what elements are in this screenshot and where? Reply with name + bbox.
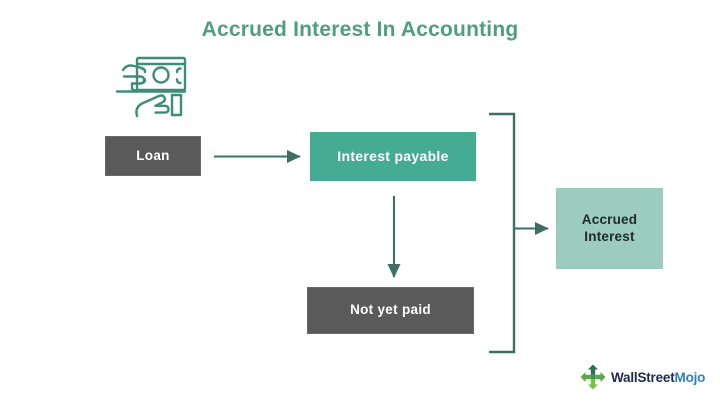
node-loan-label: Loan: [136, 148, 169, 165]
node-accrued-interest-line2: Interest: [584, 229, 634, 244]
node-accrued-interest[interactable]: Accrued Interest: [556, 188, 663, 269]
money-hand-icon: [103, 48, 197, 120]
logo-text: WallStreetMojo: [611, 370, 705, 385]
logo-text-secondary: Mojo: [675, 370, 706, 385]
diagram-canvas: Accrued Interest In Accounting: [0, 0, 720, 403]
wallstreetmojo-logo[interactable]: WallStreetMojo: [580, 360, 708, 394]
four-arrow-logo-icon: [580, 364, 606, 390]
node-not-yet-paid[interactable]: Not yet paid: [307, 287, 474, 334]
page-title: Accrued Interest In Accounting: [0, 18, 720, 42]
node-accrued-interest-label: Accrued Interest: [582, 212, 637, 246]
logo-text-primary: WallStreet: [611, 370, 675, 385]
node-loan[interactable]: Loan: [105, 136, 201, 176]
node-interest-payable-label: Interest payable: [337, 148, 448, 166]
node-interest-payable[interactable]: Interest payable: [310, 132, 476, 181]
node-not-yet-paid-label: Not yet paid: [350, 302, 431, 319]
node-accrued-interest-line1: Accrued: [582, 212, 637, 227]
connector-bracket: [489, 114, 514, 352]
